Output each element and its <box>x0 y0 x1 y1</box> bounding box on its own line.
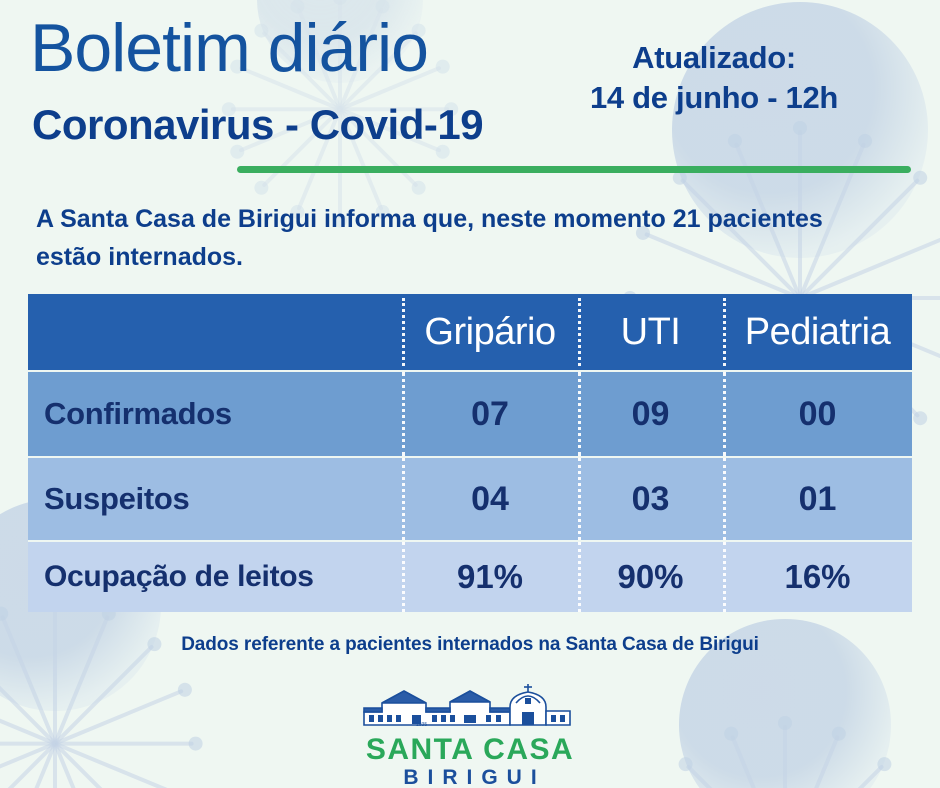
updated-date: 14 de junho - 12h <box>504 78 924 118</box>
row-label-suspeitos: Suspeitos <box>28 481 402 517</box>
column-header-pediatria: Pediatria <box>723 311 912 354</box>
cell-suspeitos-uti: 03 <box>578 480 723 519</box>
status-table: Gripário UTI Pediatria Confirmados 07 09… <box>28 294 912 612</box>
cell-ocupacao-uti: 90% <box>578 558 723 596</box>
cell-suspeitos-gripario: 04 <box>402 480 578 519</box>
logo-name-top: SANTA CASA <box>0 734 940 766</box>
hospital-building-icon: 1935 <box>360 681 580 733</box>
table-row: Confirmados 07 09 00 <box>28 370 912 456</box>
column-header-uti: UTI <box>578 311 723 354</box>
green-divider <box>237 166 911 173</box>
cell-confirmados-gripario: 07 <box>402 395 578 434</box>
cell-ocupacao-gripario: 91% <box>402 558 578 596</box>
row-label-confirmados: Confirmados <box>28 396 402 432</box>
footnote-text: Dados referente a pacientes internados n… <box>0 634 940 656</box>
updated-block: Atualizado: 14 de junho - 12h <box>504 38 924 117</box>
table-header-row: Gripário UTI Pediatria <box>28 294 912 370</box>
column-header-gripario: Gripário <box>402 311 578 354</box>
boletim-poster: Boletim diário Coronavirus - Covid-19 At… <box>0 0 940 788</box>
updated-label: Atualizado: <box>504 38 924 78</box>
cell-ocupacao-pediatria: 16% <box>723 558 912 596</box>
intro-text: A Santa Casa de Birigui informa que, nes… <box>36 200 866 276</box>
table-row: Suspeitos 04 03 01 <box>28 456 912 540</box>
building-year-label: 1935 <box>416 722 427 728</box>
cell-confirmados-pediatria: 00 <box>723 395 912 434</box>
table-row: Ocupação de leitos 91% 90% 16% <box>28 540 912 612</box>
logo-name-bottom: BIRIGUI <box>0 766 940 788</box>
santa-casa-logo: 1935 SANTA CASA BIRIGUI <box>0 681 940 788</box>
page-title: Boletim diário <box>30 14 428 82</box>
cell-suspeitos-pediatria: 01 <box>723 480 912 519</box>
row-label-ocupacao: Ocupação de leitos <box>28 560 402 594</box>
cell-confirmados-uti: 09 <box>578 395 723 434</box>
page-subtitle: Coronavirus - Covid-19 <box>32 104 483 146</box>
